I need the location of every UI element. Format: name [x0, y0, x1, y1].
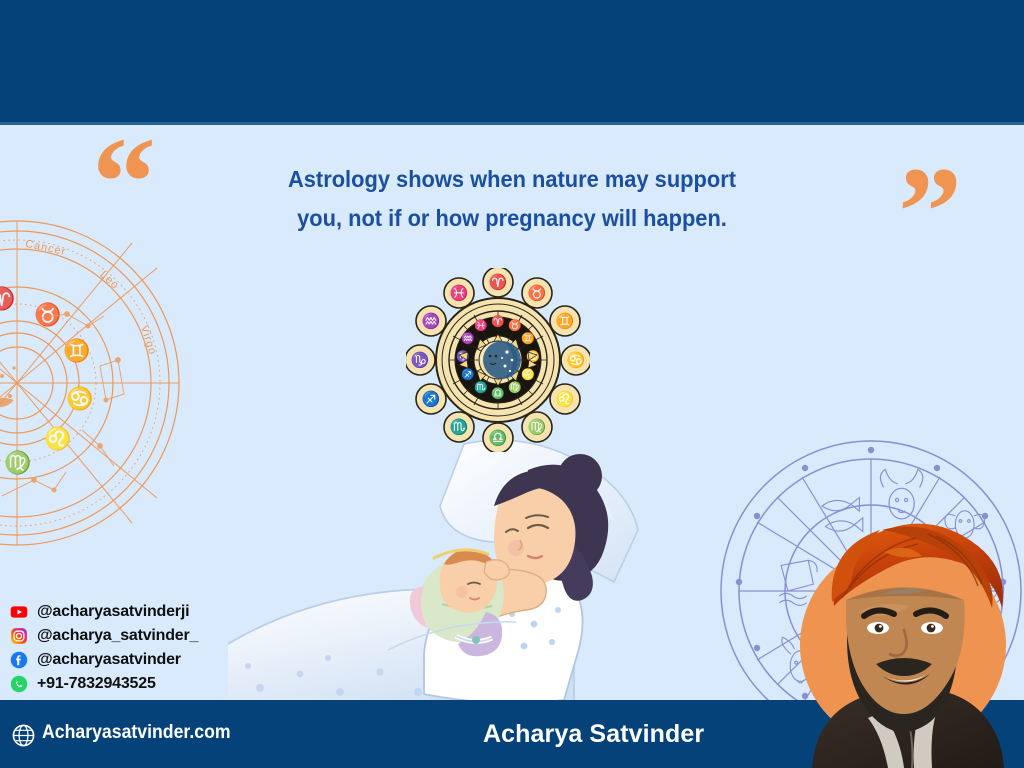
social-link-whatsapp[interactable]: +91-7832943525	[10, 672, 198, 695]
social-handle-instagram: @acharya_satvinder_	[37, 627, 198, 645]
quote-close-mark: ”	[898, 148, 962, 276]
social-handle-youtube: @acharyasatvinderji	[37, 603, 189, 621]
facebook-icon	[10, 651, 28, 669]
globe-icon	[12, 724, 35, 747]
acharya-satvinder-portrait	[786, 516, 1024, 768]
whatsapp-icon	[10, 675, 28, 693]
svg-text:Virgo: Virgo	[138, 324, 159, 357]
social-link-instagram[interactable]: @acharya_satvinder_	[10, 624, 198, 647]
social-link-facebook[interactable]: @acharyasatvinder	[10, 648, 198, 671]
social-handle-whatsapp: +91-7832943525	[37, 675, 156, 693]
astrology-chart-wheel-left: Aries Taurus Gemini Cancer Leo Virgo ♈ ♉…	[0, 218, 182, 548]
zodiac-wheel-center: ♈ ♉ ♊ ♋ ♌ ♍ ♎ ♏ ♐ ♑ ♒ ♓	[406, 268, 590, 452]
social-links: @acharyasatvinderji @acharya_satvinder_	[10, 600, 198, 696]
footer-brand-name: Acharya Satvinder	[483, 720, 704, 749]
svg-text:♒: ♒	[461, 332, 475, 345]
social-link-youtube[interactable]: @acharyasatvinderji	[10, 600, 198, 623]
youtube-icon	[10, 603, 28, 621]
svg-text:♍: ♍	[4, 450, 31, 475]
svg-text:♍: ♍	[508, 381, 522, 394]
poster-canvas: Aries Taurus Gemini Cancer Leo Virgo ♈ ♉…	[0, 0, 1024, 768]
social-handle-facebook: @acharyasatvinder	[37, 651, 181, 669]
instagram-icon	[10, 627, 28, 645]
quote-line-2: you, not if or how pregnancy will happen…	[227, 199, 797, 238]
quote-open-mark: “	[92, 118, 156, 246]
quote-text: Astrology shows when nature may support …	[227, 160, 797, 238]
svg-text:♐: ♐	[461, 368, 475, 381]
svg-text:♉: ♉	[508, 319, 522, 332]
header-bar	[0, 0, 1024, 122]
svg-text:Cancer: Cancer	[24, 238, 67, 258]
svg-text:♊: ♊	[521, 332, 535, 345]
svg-text:♋: ♋	[66, 386, 93, 411]
quote-line-1: Astrology shows when nature may support	[227, 160, 797, 199]
svg-text:♏: ♏	[474, 381, 488, 394]
avatar	[786, 516, 1024, 768]
svg-text:♊: ♊	[63, 338, 90, 363]
svg-text:♌: ♌	[44, 426, 71, 451]
svg-text:Leo: Leo	[97, 269, 121, 292]
mother-holding-newborn-in-hospital-bed	[228, 436, 658, 712]
svg-text:♓: ♓	[474, 319, 488, 332]
svg-text:♎: ♎	[491, 387, 505, 400]
svg-text:♈: ♈	[0, 286, 16, 311]
svg-text:♈: ♈	[491, 315, 505, 328]
svg-text:♉: ♉	[34, 302, 61, 327]
footer-website[interactable]: Acharyasatvinder.com	[42, 722, 231, 744]
header-divider	[0, 122, 1024, 125]
svg-text:♌: ♌	[521, 368, 535, 381]
